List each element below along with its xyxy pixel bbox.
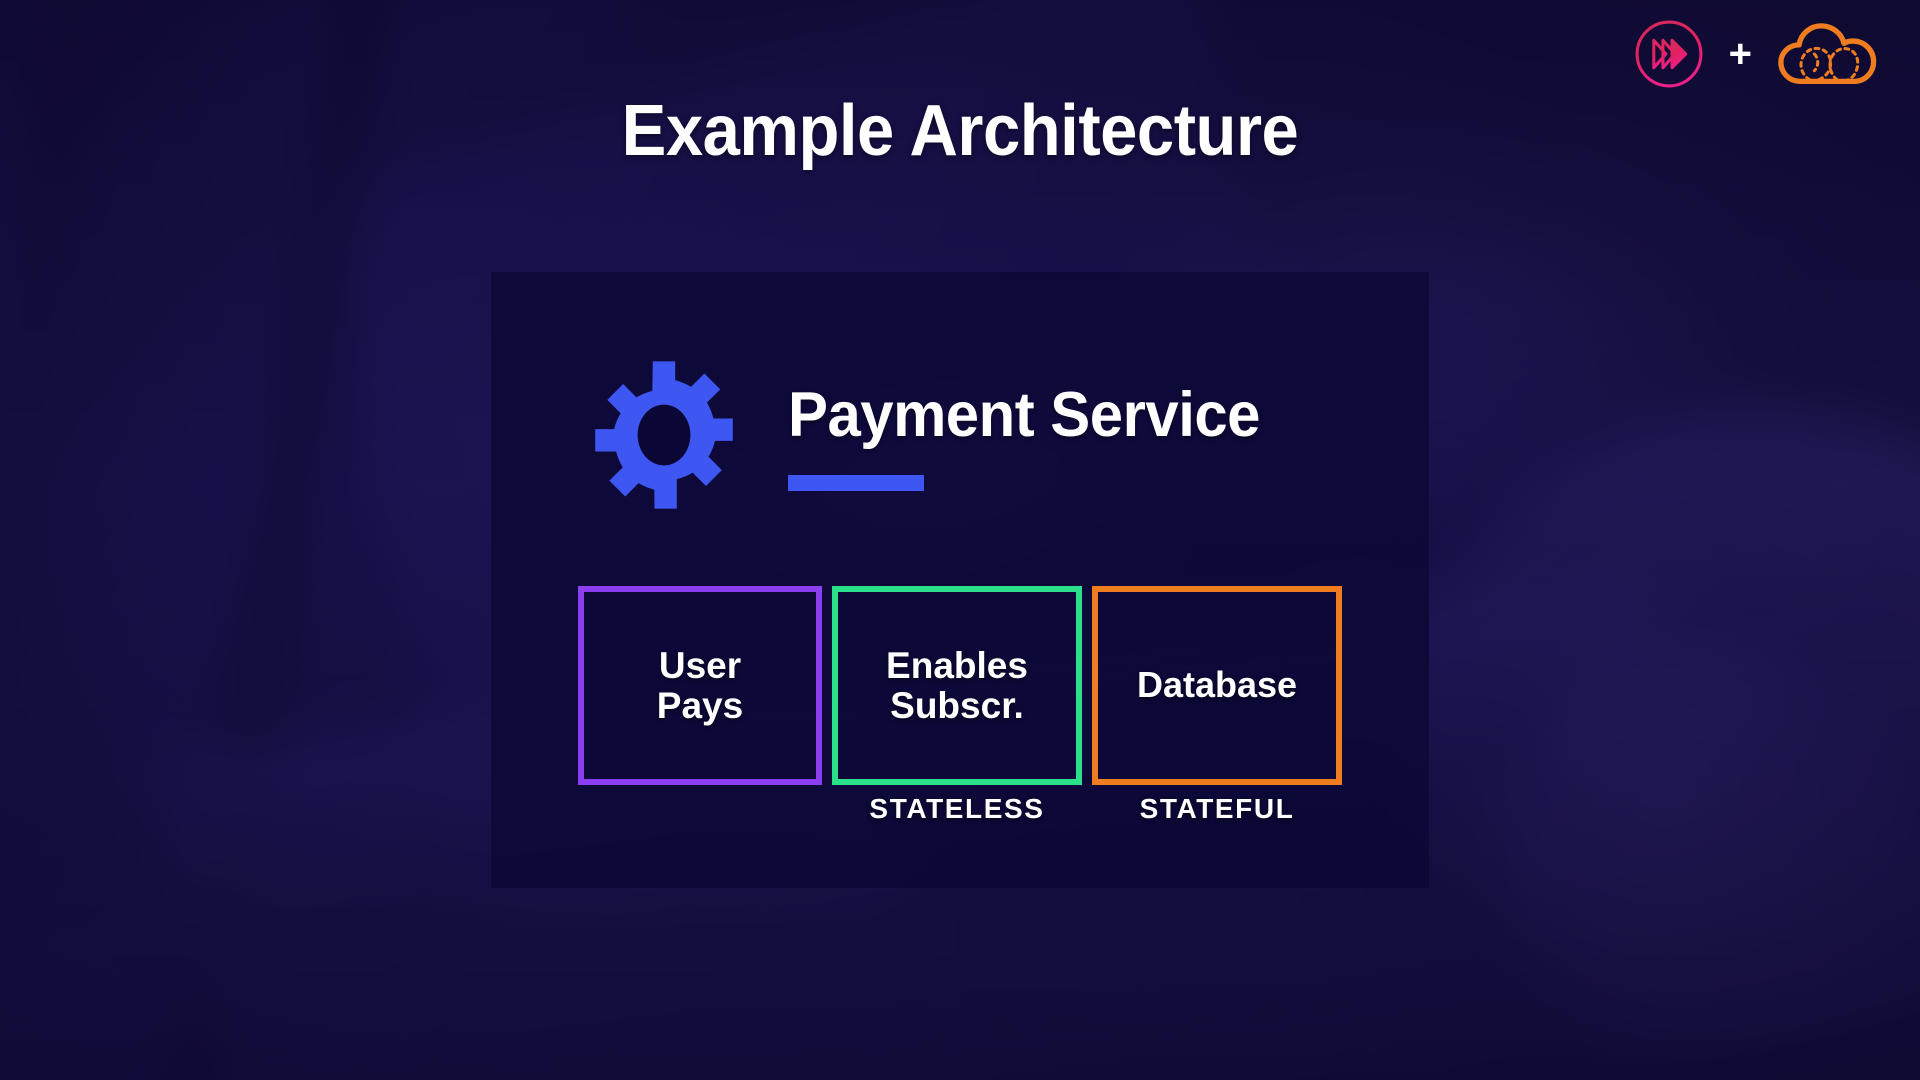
state-badge-stateless: STATELESS bbox=[832, 793, 1082, 825]
component-box-line2: Pays bbox=[657, 685, 743, 726]
component-box-label: Database bbox=[1137, 666, 1297, 705]
service-name: Payment Service bbox=[788, 384, 1260, 447]
state-label-spacer bbox=[578, 793, 832, 825]
slide-canvas: + Example Architecture Payment Service bbox=[0, 0, 1920, 1080]
component-box-database[interactable]: Database bbox=[1092, 586, 1342, 785]
service-header: Payment Service bbox=[584, 355, 1285, 515]
play-circle-icon bbox=[1631, 16, 1707, 92]
component-box-enables-subscr[interactable]: Enables Subscr. bbox=[832, 586, 1082, 785]
plus-icon: + bbox=[1729, 34, 1752, 74]
state-label-row: STATELESS STATEFUL bbox=[578, 793, 1342, 825]
service-accent-rule bbox=[788, 475, 924, 491]
brand-logo-bar: + bbox=[1631, 16, 1882, 92]
state-label-spacer bbox=[1082, 793, 1092, 825]
page-title: Example Architecture bbox=[67, 95, 1853, 167]
component-boxes: User Pays Enables Subscr. Database bbox=[578, 586, 1342, 785]
component-box-label: Enables Subscr. bbox=[886, 646, 1028, 726]
gear-icon bbox=[584, 355, 744, 515]
component-box-line2: Subscr. bbox=[890, 685, 1024, 726]
service-title-block: Payment Service bbox=[788, 380, 1285, 491]
component-box-label: User Pays bbox=[657, 646, 743, 726]
component-box-line1: Enables bbox=[886, 645, 1028, 686]
cloud-icon bbox=[1774, 16, 1882, 92]
component-box-user-pays[interactable]: User Pays bbox=[578, 586, 822, 785]
state-badge-stateful: STATEFUL bbox=[1092, 793, 1342, 825]
component-box-line1: User bbox=[659, 645, 741, 686]
architecture-panel: Payment Service User Pays Enables Subscr… bbox=[491, 272, 1429, 888]
